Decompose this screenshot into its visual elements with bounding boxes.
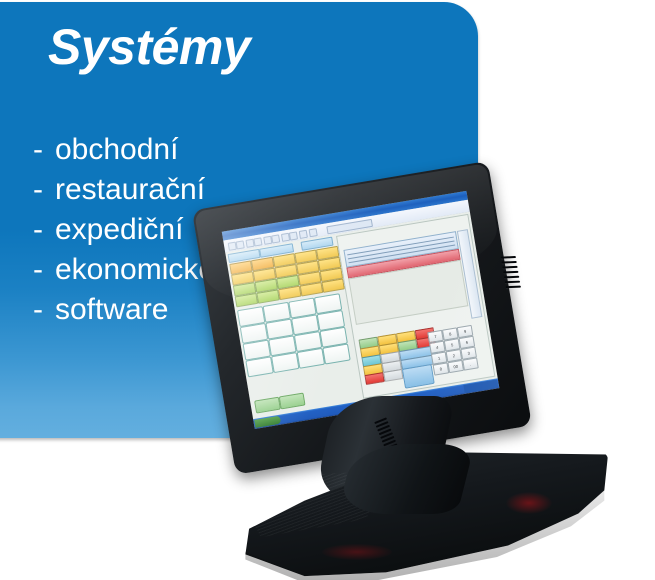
bullet-dash-icon: - (33, 210, 55, 250)
pos-receipt-pane: 7 8 9 4 5 6 1 2 3 0 00 . (336, 214, 495, 399)
monitor-stand-base (238, 452, 608, 580)
toolbar-icon[interactable] (236, 240, 245, 249)
toolbar-icon[interactable] (309, 228, 318, 237)
numpad-key[interactable]: 0 (433, 362, 450, 375)
bullet-dash-icon: - (33, 290, 55, 330)
category-button[interactable] (300, 282, 324, 296)
product-key[interactable] (271, 352, 299, 373)
toolbar-icon[interactable] (253, 237, 262, 246)
product-key[interactable] (245, 356, 273, 377)
stand-hinge (337, 444, 474, 514)
category-button[interactable] (235, 293, 259, 307)
category-button[interactable] (256, 289, 280, 303)
pos-numeric-keypad: 7 8 9 4 5 6 1 2 3 0 00 . (427, 325, 481, 384)
stand-base-highlight (506, 492, 552, 514)
numpad-key[interactable]: . (462, 357, 479, 370)
toolbar-icon[interactable] (299, 230, 308, 239)
function-key[interactable] (383, 369, 403, 382)
pos-terminal-product-image: 7 8 9 4 5 6 1 2 3 0 00 . (228, 182, 628, 580)
bullet-dash-icon: - (33, 130, 55, 170)
bullet-dash-icon: - (33, 250, 55, 290)
list-item-label: software (55, 293, 168, 326)
pos-action-button[interactable] (279, 393, 306, 410)
category-button[interactable] (278, 286, 302, 300)
toolbar-icon[interactable] (271, 234, 280, 243)
bullet-dash-icon: - (33, 170, 55, 210)
product-key[interactable] (322, 343, 350, 364)
product-key[interactable] (297, 348, 325, 369)
pos-product-key-grid (237, 293, 355, 378)
function-key[interactable] (364, 372, 384, 385)
toolbar-icon[interactable] (289, 231, 298, 240)
pay-button[interactable] (402, 364, 435, 389)
stand-base-surface (238, 452, 608, 580)
category-button[interactable] (321, 278, 345, 292)
list-item-label: expediční (55, 213, 183, 246)
page-title: Systémy (48, 18, 250, 76)
list-item-label: restaurační (55, 173, 205, 206)
pos-action-button[interactable] (254, 397, 281, 414)
touchscreen-display: 7 8 9 4 5 6 1 2 3 0 00 . (222, 191, 500, 429)
list-item: -obchodní (33, 130, 363, 170)
list-item-label: obchodní (55, 133, 178, 166)
list-item-label: ekonomické (55, 253, 215, 286)
promo-banner: Systémy -obchodní -restaurační -expedičn… (0, 0, 655, 580)
stand-base-highlight-secondary (322, 544, 392, 560)
numpad-key[interactable]: 00 (447, 360, 464, 373)
pos-left-action-buttons (254, 393, 305, 413)
